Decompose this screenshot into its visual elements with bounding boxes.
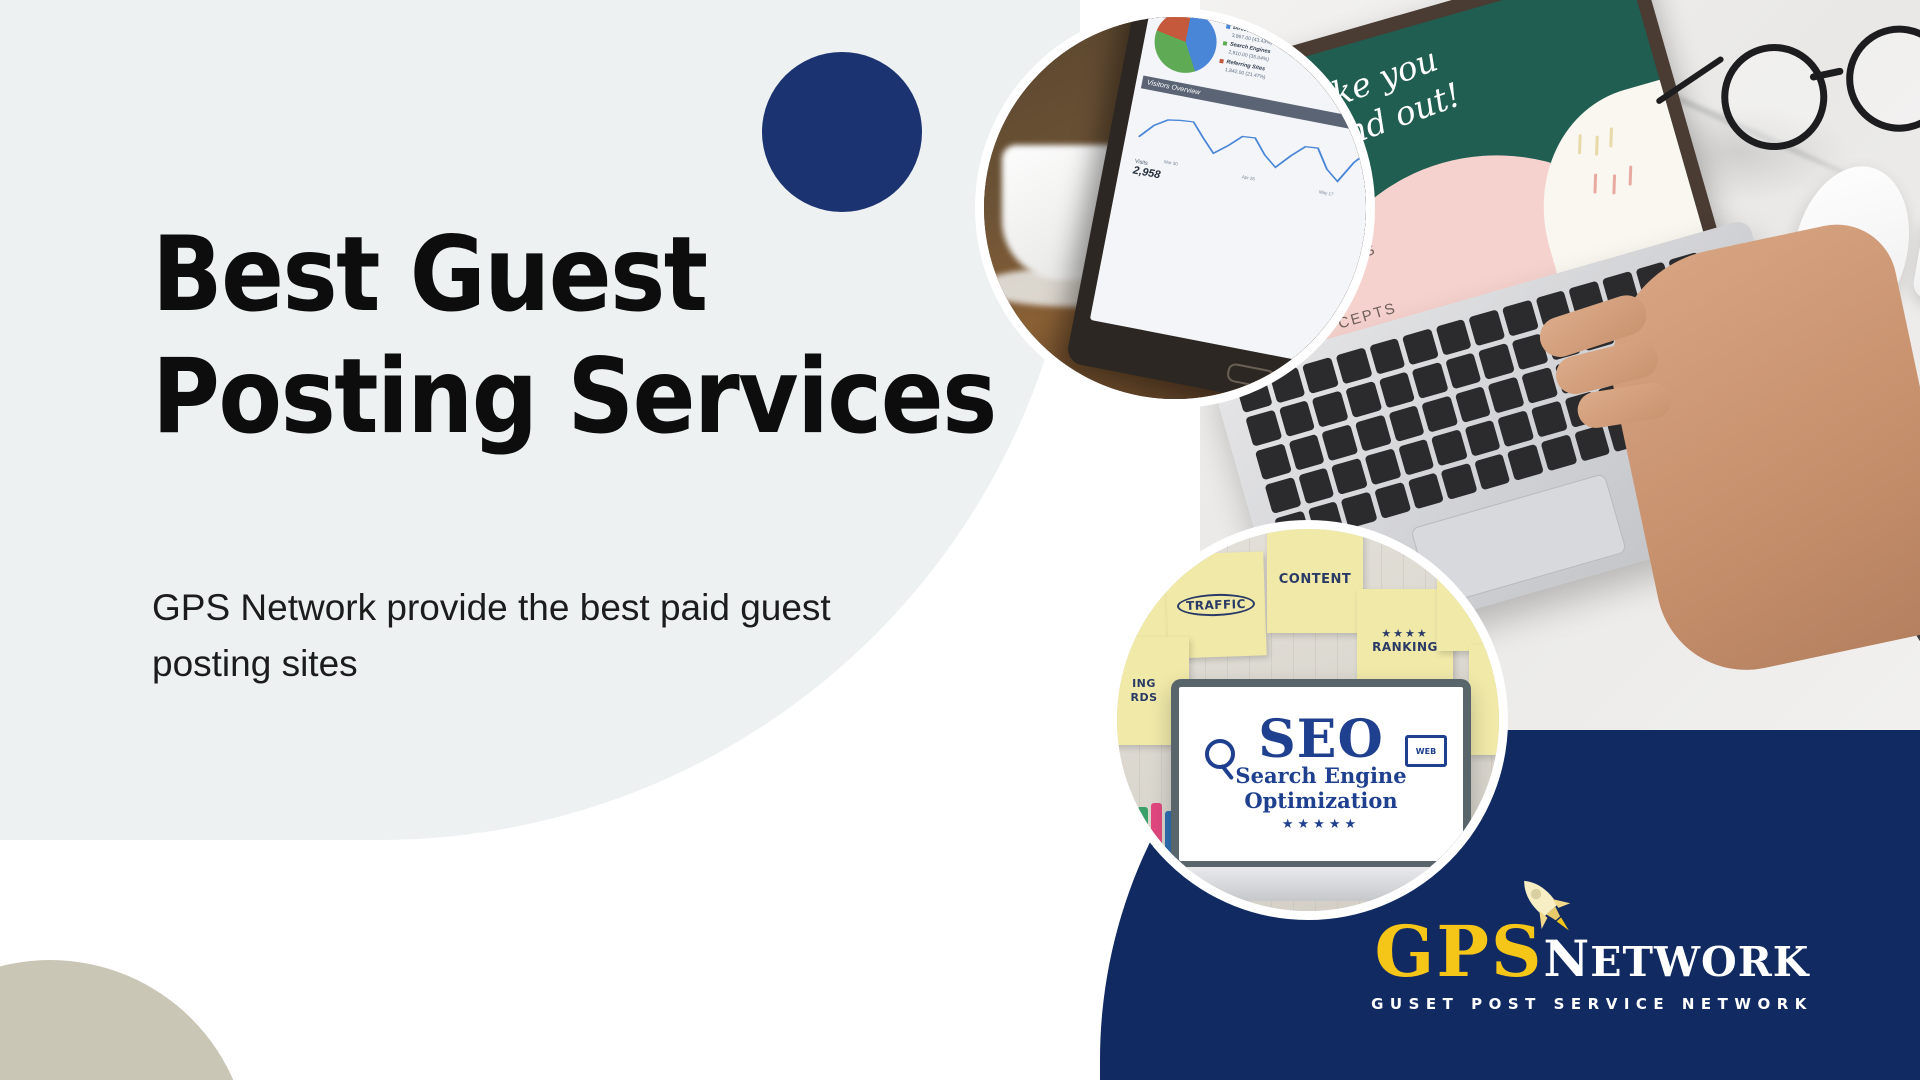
seo-laptop-screen: WEB SEO Search Engine Optimization ★★★★★	[1179, 687, 1463, 861]
headline-line-2: Posting Services	[152, 337, 1062, 459]
seo-subtitle-1: Search Engine	[1235, 764, 1406, 788]
headline-block: Best Guest Posting Services GPS Network …	[152, 215, 1062, 693]
visitors-line-chart: Mar 30 Apr 26 May 17 May 28 Visits 2,958	[1124, 88, 1375, 237]
rocket-icon	[1508, 867, 1582, 941]
seo-laptop: WEB SEO Search Engine Optimization ★★★★★	[1171, 679, 1471, 869]
web-monitor-icon: WEB	[1405, 735, 1447, 767]
logo-tagline: Guset Post Service Network	[1312, 995, 1872, 1013]
sticky-note-keywords-label: ING RDS	[1130, 677, 1157, 705]
pie-legend: Direct Traffic 3,867.00 (43.43%) Search …	[1217, 24, 1274, 84]
logo-network-text: Network	[1544, 915, 1810, 987]
beige-circle-bottom-left	[0, 960, 250, 1080]
seo-laptop-base	[1151, 867, 1491, 901]
seo-desk-photo: AGE TRAFFIC CONTENT ★★★★ RANKING ARCH IN…	[1108, 520, 1508, 920]
sticky-note-ranking-label: RANKING	[1372, 640, 1438, 654]
seo-star-rating: ★★★★★	[1282, 816, 1360, 832]
ranking-stars: ★★★★	[1372, 627, 1438, 640]
marketing-banner: Best Guest Posting Services GPS Network …	[0, 0, 1920, 1080]
magnifier-icon	[1205, 739, 1235, 769]
sticky-note-traffic-label: TRAFFIC	[1177, 593, 1256, 618]
logo-wordmark: GPS Network	[1312, 915, 1872, 987]
sticky-note-content-label: CONTENT	[1279, 572, 1351, 587]
headline-line-1: Best Guest	[152, 215, 1062, 337]
sticky-note-architecture: ARCH	[1437, 547, 1508, 651]
seo-title: SEO	[1258, 716, 1383, 764]
tablet-home-button	[1226, 362, 1277, 390]
tablet-screen: 3.32 Pag Traffic Sources Overview Direct…	[1090, 8, 1375, 384]
navy-accent-circle	[762, 52, 922, 212]
pie-chart	[1149, 8, 1222, 78]
seo-subtitle-2: Optimization	[1244, 789, 1397, 813]
subtitle-text: GPS Network provide the best paid guest …	[152, 580, 912, 692]
page-title: Best Guest Posting Services	[152, 215, 1062, 458]
sticky-note-content: CONTENT	[1267, 525, 1363, 633]
brand-logo[interactable]: GPS Network Guset Post Service Network	[1312, 915, 1872, 1013]
